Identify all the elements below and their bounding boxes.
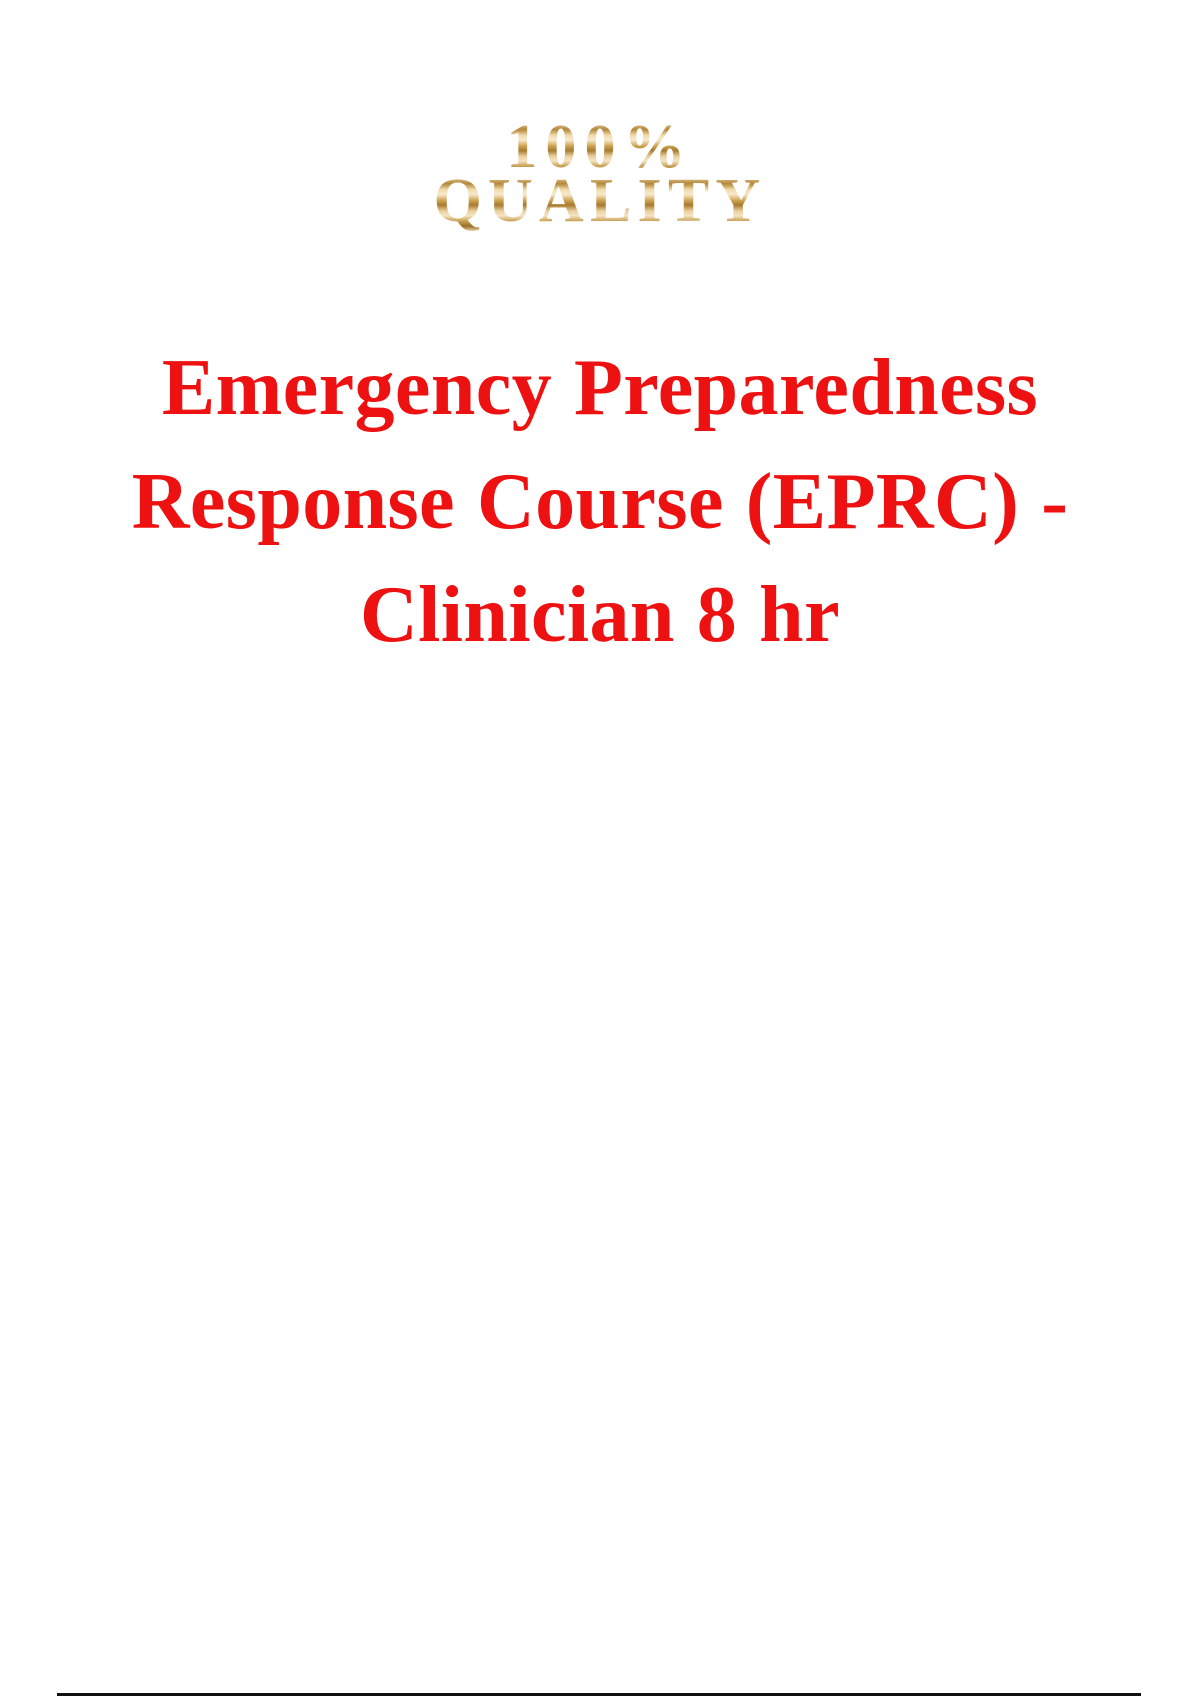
quality-seal-icon: 100% QUALITY — [0, 118, 1200, 231]
page-title: Emergency Preparedness Response Course (… — [120, 332, 1080, 673]
quality-seal-quality-text: QUALITY — [0, 172, 1200, 230]
footer-divider — [57, 1693, 1141, 1696]
document-cover-page: 100% QUALITY Emergency Preparedness Resp… — [0, 0, 1200, 1700]
